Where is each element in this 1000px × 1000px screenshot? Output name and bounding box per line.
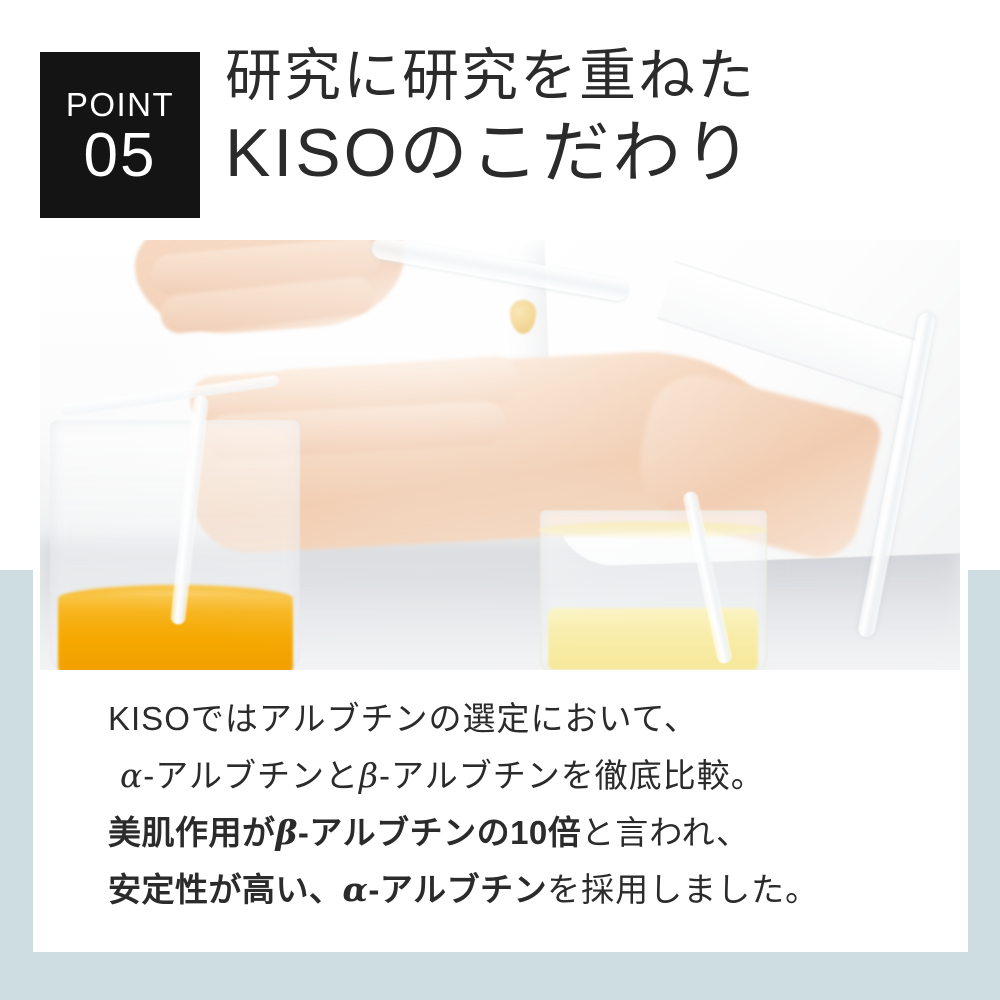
copy-line-4: 安定性が高い、α-アルブチンを採用しました。 xyxy=(108,861,968,918)
copy-line-3-bold-post: -アルブチンの10倍 xyxy=(298,814,581,851)
copy-line-4-bold-pre: 安定性が高い、 xyxy=(108,871,343,908)
copy-line-2-post: -アルブチンを徹底比較。 xyxy=(379,757,765,794)
yellow-beaker-rim-icon xyxy=(538,522,768,538)
point-badge-number: 05 xyxy=(84,123,157,188)
body-copy: KISOではアルブチンの選定において、 α-アルブチンとβ-アルブチンを徹底比較… xyxy=(108,690,968,918)
alpha-symbol: α xyxy=(120,756,143,795)
hero-photo xyxy=(40,240,960,670)
copy-line-4-bold-post: -アルブチン xyxy=(368,871,547,908)
point-badge-word: POINT xyxy=(66,88,174,121)
beta-symbol: β xyxy=(276,813,298,852)
copy-line-3-rest: と言われ、 xyxy=(581,814,750,851)
copy-line-3-bold-pre: 美肌作用が xyxy=(108,814,276,851)
content-card: POINT 05 研究に研究を重ねた KISOのこだわり xyxy=(33,0,968,952)
alpha-symbol: α xyxy=(343,870,369,909)
copy-line-3: 美肌作用がβ-アルブチンの10倍と言われ、 xyxy=(108,804,968,861)
copy-line-4-rest: を採用しました。 xyxy=(547,871,819,908)
copy-line-2: α-アルブチンとβ-アルブチンを徹底比較。 xyxy=(108,747,968,804)
point-badge: POINT 05 xyxy=(40,52,200,218)
page-title: 研究に研究を重ねた KISOのこだわり xyxy=(225,40,955,196)
header: POINT 05 研究に研究を重ねた KISOのこだわり xyxy=(33,0,968,240)
copy-line-1: KISOではアルブチンの選定において、 xyxy=(108,690,968,747)
beta-symbol: β xyxy=(359,756,379,795)
page-root: POINT 05 研究に研究を重ねた KISOのこだわり xyxy=(0,0,1000,1000)
heading-line-1: 研究に研究を重ねた xyxy=(225,40,955,113)
heading-line-2: KISOのこだわり xyxy=(225,111,955,196)
copy-line-2-mid: -アルブチンと xyxy=(143,757,359,794)
